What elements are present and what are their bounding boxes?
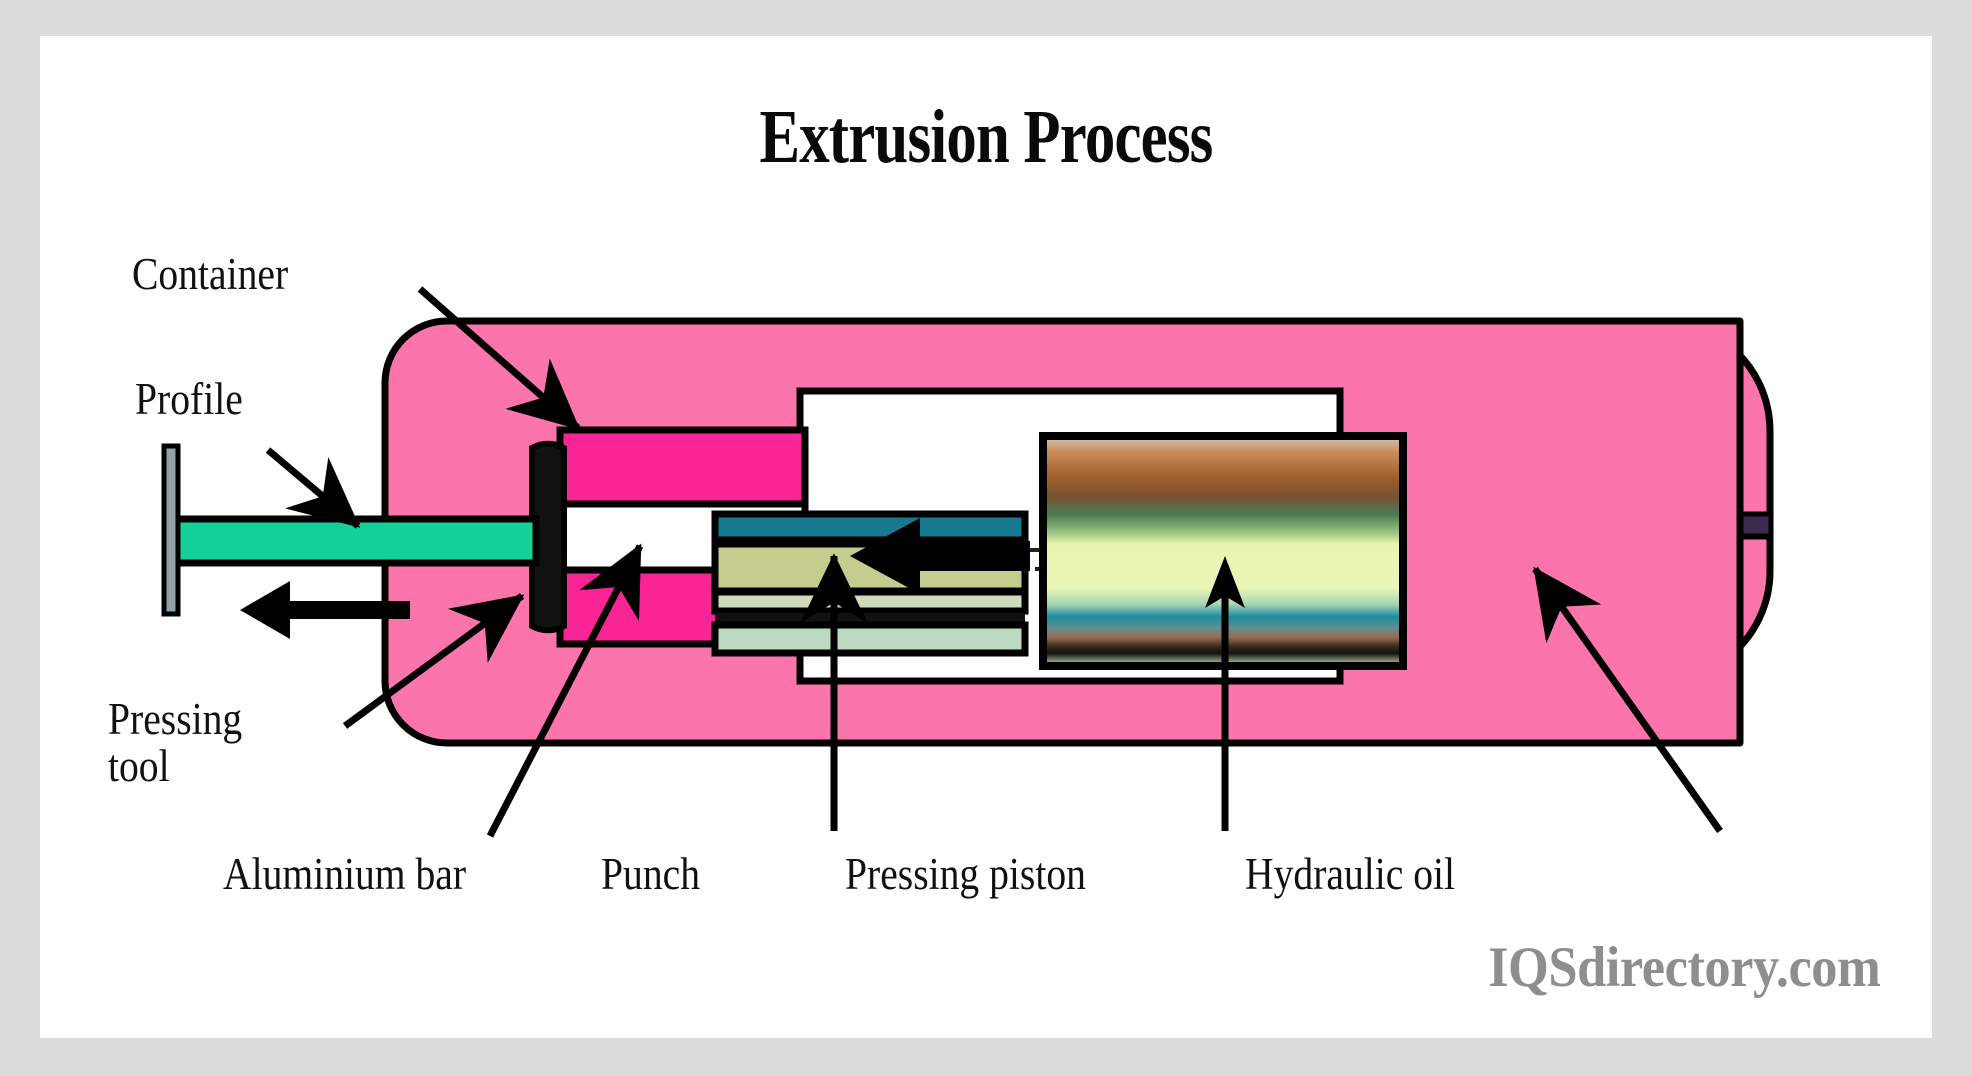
billet-mint-band bbox=[715, 625, 1025, 653]
label-profile: Profile bbox=[135, 376, 243, 423]
billet-pale-band bbox=[715, 592, 1025, 611]
label-pressing-piston: Pressing piston bbox=[845, 851, 1086, 898]
watermark: IQSdirectory.com bbox=[1488, 935, 1880, 1000]
leader-profile bbox=[268, 450, 358, 526]
label-aluminium-bar: Aluminium bar bbox=[223, 851, 466, 898]
diagram-card: Extrusion Process bbox=[40, 36, 1932, 1038]
label-hydraulic-oil: Hydraulic oil bbox=[1245, 851, 1455, 898]
profile-end-plate bbox=[164, 446, 178, 614]
label-pressing-tool: Pressing tool bbox=[108, 696, 242, 791]
billet-teal-band bbox=[715, 514, 1025, 540]
container-liner-top bbox=[560, 430, 805, 505]
label-container: Container bbox=[132, 251, 288, 298]
screenshot-root: Extrusion Process bbox=[0, 0, 1972, 1076]
label-punch: Punch bbox=[601, 851, 700, 898]
diagram-stage: Container Profile Pressing tool Aluminiu… bbox=[40, 36, 1932, 1038]
